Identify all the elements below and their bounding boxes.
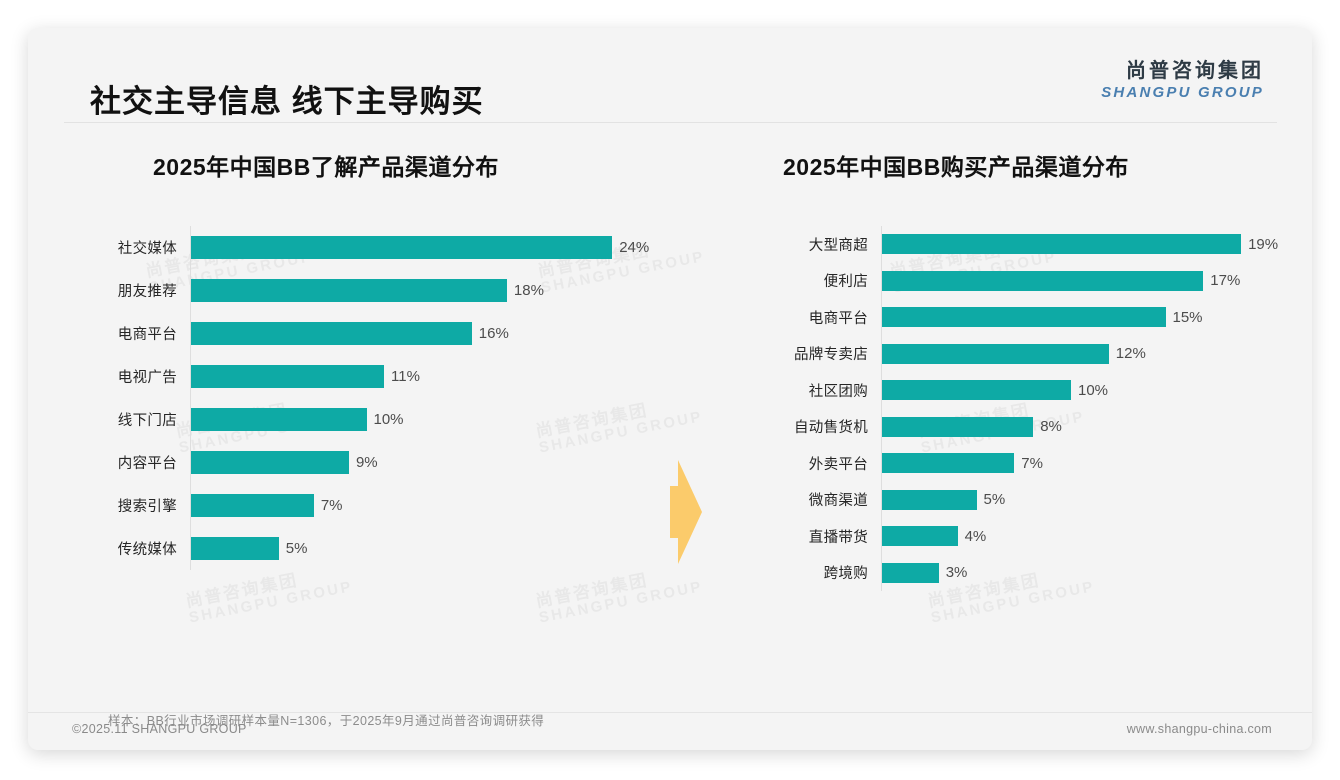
bar-value-label: 24% [619,239,649,256]
bar-row: 电视广告11% [68,355,678,398]
bar-row: 大型商超19% [728,226,1288,263]
bar-wrapper: 10% [191,408,678,431]
bar-row: 便利店17% [728,263,1288,300]
bar-value-label: 10% [374,411,404,428]
bar-wrapper: 9% [191,451,678,474]
website-link[interactable]: www.shangpu-china.com [1127,722,1272,736]
bar-row: 跨境购3% [728,555,1288,592]
category-label: 社交媒体 [68,237,190,258]
bar [191,451,349,474]
brand-logo: 尚普咨询集团 SHANGPU GROUP [1101,60,1264,102]
footer-divider [28,712,1312,713]
category-label: 电商平台 [68,323,190,344]
bar-value-label: 9% [356,454,378,471]
chart-panel-awareness: 2025年中国BB了解产品渠道分布 社交媒体24%朋友推荐18%电商平台16%电… [68,148,678,570]
bar [191,537,279,560]
bar-wrapper: 15% [882,307,1288,327]
category-label: 大型商超 [728,234,881,255]
chart-panel-purchase: 2025年中国BB购买产品渠道分布 大型商超19%便利店17%电商平台15%品牌… [728,148,1288,591]
axis-line [881,226,882,591]
header-divider [64,122,1277,123]
bar [882,453,1014,473]
bar-wrapper: 12% [882,344,1288,364]
bar-wrapper: 24% [191,236,678,259]
slide-header: 社交主导信息 线下主导购买 尚普咨询集团 SHANGPU GROUP [28,28,1312,120]
category-label: 品牌专卖店 [728,343,881,364]
bar-row: 社区团购10% [728,372,1288,409]
bar [191,236,612,259]
bar-row: 品牌专卖店12% [728,336,1288,373]
bar-row: 传统媒体5% [68,527,678,570]
bar [882,490,977,510]
bar [882,563,939,583]
bar-wrapper: 10% [882,380,1288,400]
category-label: 电商平台 [728,307,881,328]
chart-title-left: 2025年中国BB了解产品渠道分布 [153,148,678,182]
bar-row: 自动售货机8% [728,409,1288,446]
bar-value-label: 7% [321,497,343,514]
copyright-text: ©2025.11 SHANGPU GROUP [72,722,247,736]
bar-row: 朋友推荐18% [68,269,678,312]
bar-wrapper: 17% [882,271,1288,291]
category-label: 内容平台 [68,452,190,473]
bar-value-label: 5% [984,491,1006,508]
bar [191,279,507,302]
category-label: 搜索引擎 [68,495,190,516]
bar-value-label: 7% [1021,455,1043,472]
bar-value-label: 4% [965,528,987,545]
category-label: 社区团购 [728,380,881,401]
bar-row: 直播带货4% [728,518,1288,555]
bar-wrapper: 5% [191,537,678,560]
bar-value-label: 5% [286,540,308,557]
brand-logo-en: SHANGPU GROUP [1101,84,1264,102]
bar-wrapper: 7% [191,494,678,517]
bar-row: 电商平台15% [728,299,1288,336]
bar-value-label: 16% [479,325,509,342]
bar-value-label: 3% [946,564,968,581]
bar-value-label: 19% [1248,236,1278,253]
bar-value-label: 18% [514,282,544,299]
bar-wrapper: 19% [882,234,1288,254]
bar-row: 外卖平台7% [728,445,1288,482]
axis-line [190,226,191,570]
bar-row: 内容平台9% [68,441,678,484]
bar-row: 线下门店10% [68,398,678,441]
bar [882,307,1166,327]
bar-chart-right: 大型商超19%便利店17%电商平台15%品牌专卖店12%社区团购10%自动售货机… [728,226,1288,591]
chart-title-right: 2025年中国BB购买产品渠道分布 [783,148,1288,182]
bar-value-label: 10% [1078,382,1108,399]
bar [191,365,384,388]
flow-arrow-right-icon [666,460,702,564]
category-label: 电视广告 [68,366,190,387]
bar-chart-left: 社交媒体24%朋友推荐18%电商平台16%电视广告11%线下门店10%内容平台9… [68,226,678,570]
bar-value-label: 17% [1210,272,1240,289]
page-title: 社交主导信息 线下主导购买 [90,76,484,121]
bar-wrapper: 8% [882,417,1288,437]
brand-logo-cn: 尚普咨询集团 [1101,60,1264,83]
bar-row: 微商渠道5% [728,482,1288,519]
bar [882,344,1109,364]
bar-wrapper: 5% [882,490,1288,510]
bar-wrapper: 18% [191,279,678,302]
category-label: 朋友推荐 [68,280,190,301]
bar-wrapper: 16% [191,322,678,345]
slide-card: 尚普咨询集团 SHANGPU GROUP 尚普咨询集团 SHANGPU GROU… [28,28,1312,750]
bar-wrapper: 3% [882,563,1288,583]
bar-row: 社交媒体24% [68,226,678,269]
bar-value-label: 12% [1116,345,1146,362]
bar [191,322,472,345]
bar-wrapper: 11% [191,365,678,388]
bar-value-label: 15% [1173,309,1203,326]
bar [882,417,1033,437]
bar [191,408,367,431]
bar-value-label: 8% [1040,418,1062,435]
category-label: 外卖平台 [728,453,881,474]
category-label: 线下门店 [68,409,190,430]
category-label: 跨境购 [728,562,881,583]
bar-wrapper: 4% [882,526,1288,546]
category-label: 传统媒体 [68,538,190,559]
bar [882,234,1241,254]
bar [882,380,1071,400]
category-label: 直播带货 [728,526,881,547]
category-label: 微商渠道 [728,489,881,510]
category-label: 便利店 [728,270,881,291]
bar-row: 搜索引擎7% [68,484,678,527]
bar [191,494,314,517]
bar-wrapper: 7% [882,453,1288,473]
bar [882,526,958,546]
bar [882,271,1203,291]
bar-value-label: 11% [391,368,420,385]
category-label: 自动售货机 [728,416,881,437]
bar-row: 电商平台16% [68,312,678,355]
charts-container: 2025年中国BB了解产品渠道分布 社交媒体24%朋友推荐18%电商平台16%电… [28,148,1312,688]
